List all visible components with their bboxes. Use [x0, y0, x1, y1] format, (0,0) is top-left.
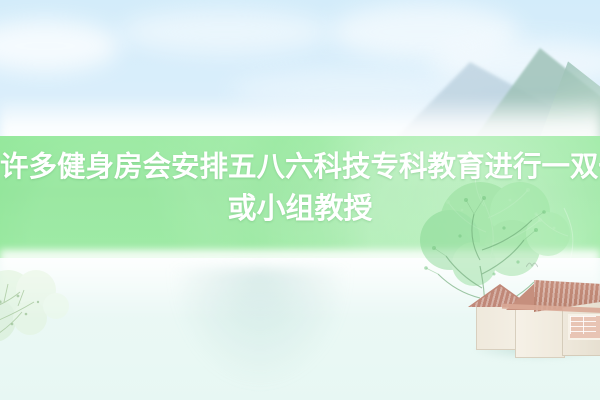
house-front-wall [515, 308, 565, 358]
headline-text: 许多健身房会安排五八六科技专科教育进行一双一 或小组教授 [0, 146, 600, 230]
ground-shadow [170, 268, 350, 388]
headline-line-2: 或小组教授 [0, 188, 600, 230]
cottage-illustration [468, 268, 600, 374]
house-window-mullions [570, 316, 596, 334]
promo-banner: 许多健身房会安排五八六科技专科教育进行一双一 或小组教授 [0, 0, 600, 400]
foliage-left-icon [0, 262, 128, 372]
headline-line-1: 许多健身房会安排五八六科技专科教育进行一双一 [0, 146, 600, 188]
